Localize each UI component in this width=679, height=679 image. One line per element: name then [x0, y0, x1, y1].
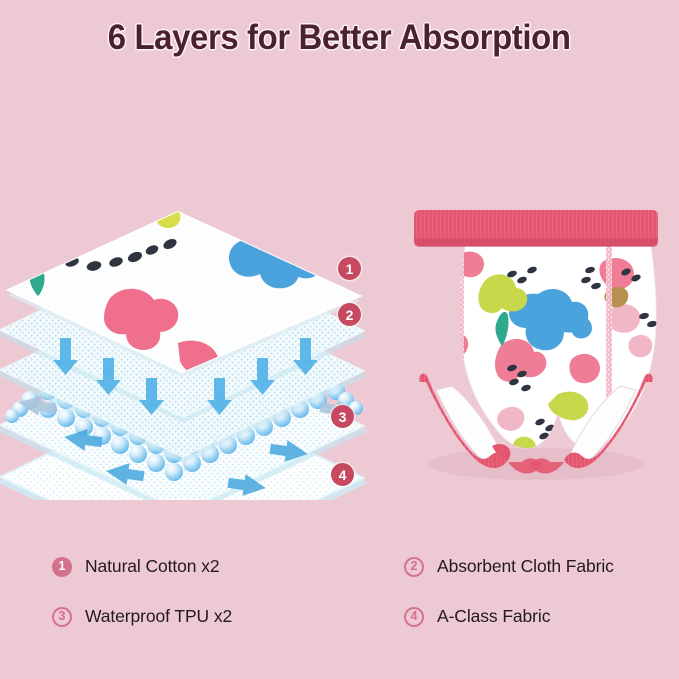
diagram-badge-1: 1 [338, 257, 361, 280]
legend-item-2: 2 Absorbent Cloth Fabric [404, 556, 614, 577]
legend-label-4: A-Class Fabric [437, 606, 550, 627]
title-container: 6 Layers for Better Absorption [0, 18, 679, 58]
page-title: 6 Layers for Better Absorption [108, 18, 571, 58]
diagram-badge-4: 4 [331, 463, 354, 486]
legend-container: 1 Natural Cotton x2 2 Absorbent Cloth Fa… [0, 548, 679, 658]
legend-item-3: 3 Waterproof TPU x2 [52, 606, 232, 627]
waistband [414, 210, 658, 247]
layer-stack-diagram: 1 2 3 4 [0, 100, 390, 500]
legend-label-1: Natural Cotton x2 [85, 556, 219, 577]
legend-label-3: Waterproof TPU x2 [85, 606, 232, 627]
diagram-badge-2: 2 [338, 303, 361, 326]
legend-label-2: Absorbent Cloth Fabric [437, 556, 614, 577]
legend-item-1: 1 Natural Cotton x2 [52, 556, 219, 577]
legend-badge-2: 2 [404, 557, 424, 577]
legend-item-4: 4 A-Class Fabric [404, 606, 550, 627]
legend-badge-1: 1 [52, 557, 72, 577]
product-image-training-pants [400, 196, 672, 492]
legend-badge-3: 3 [52, 607, 72, 627]
diagram-badge-3: 3 [331, 405, 354, 428]
legend-badge-4: 4 [404, 607, 424, 627]
infographic-stage: 6 Layers for Better Absorption [0, 0, 679, 679]
